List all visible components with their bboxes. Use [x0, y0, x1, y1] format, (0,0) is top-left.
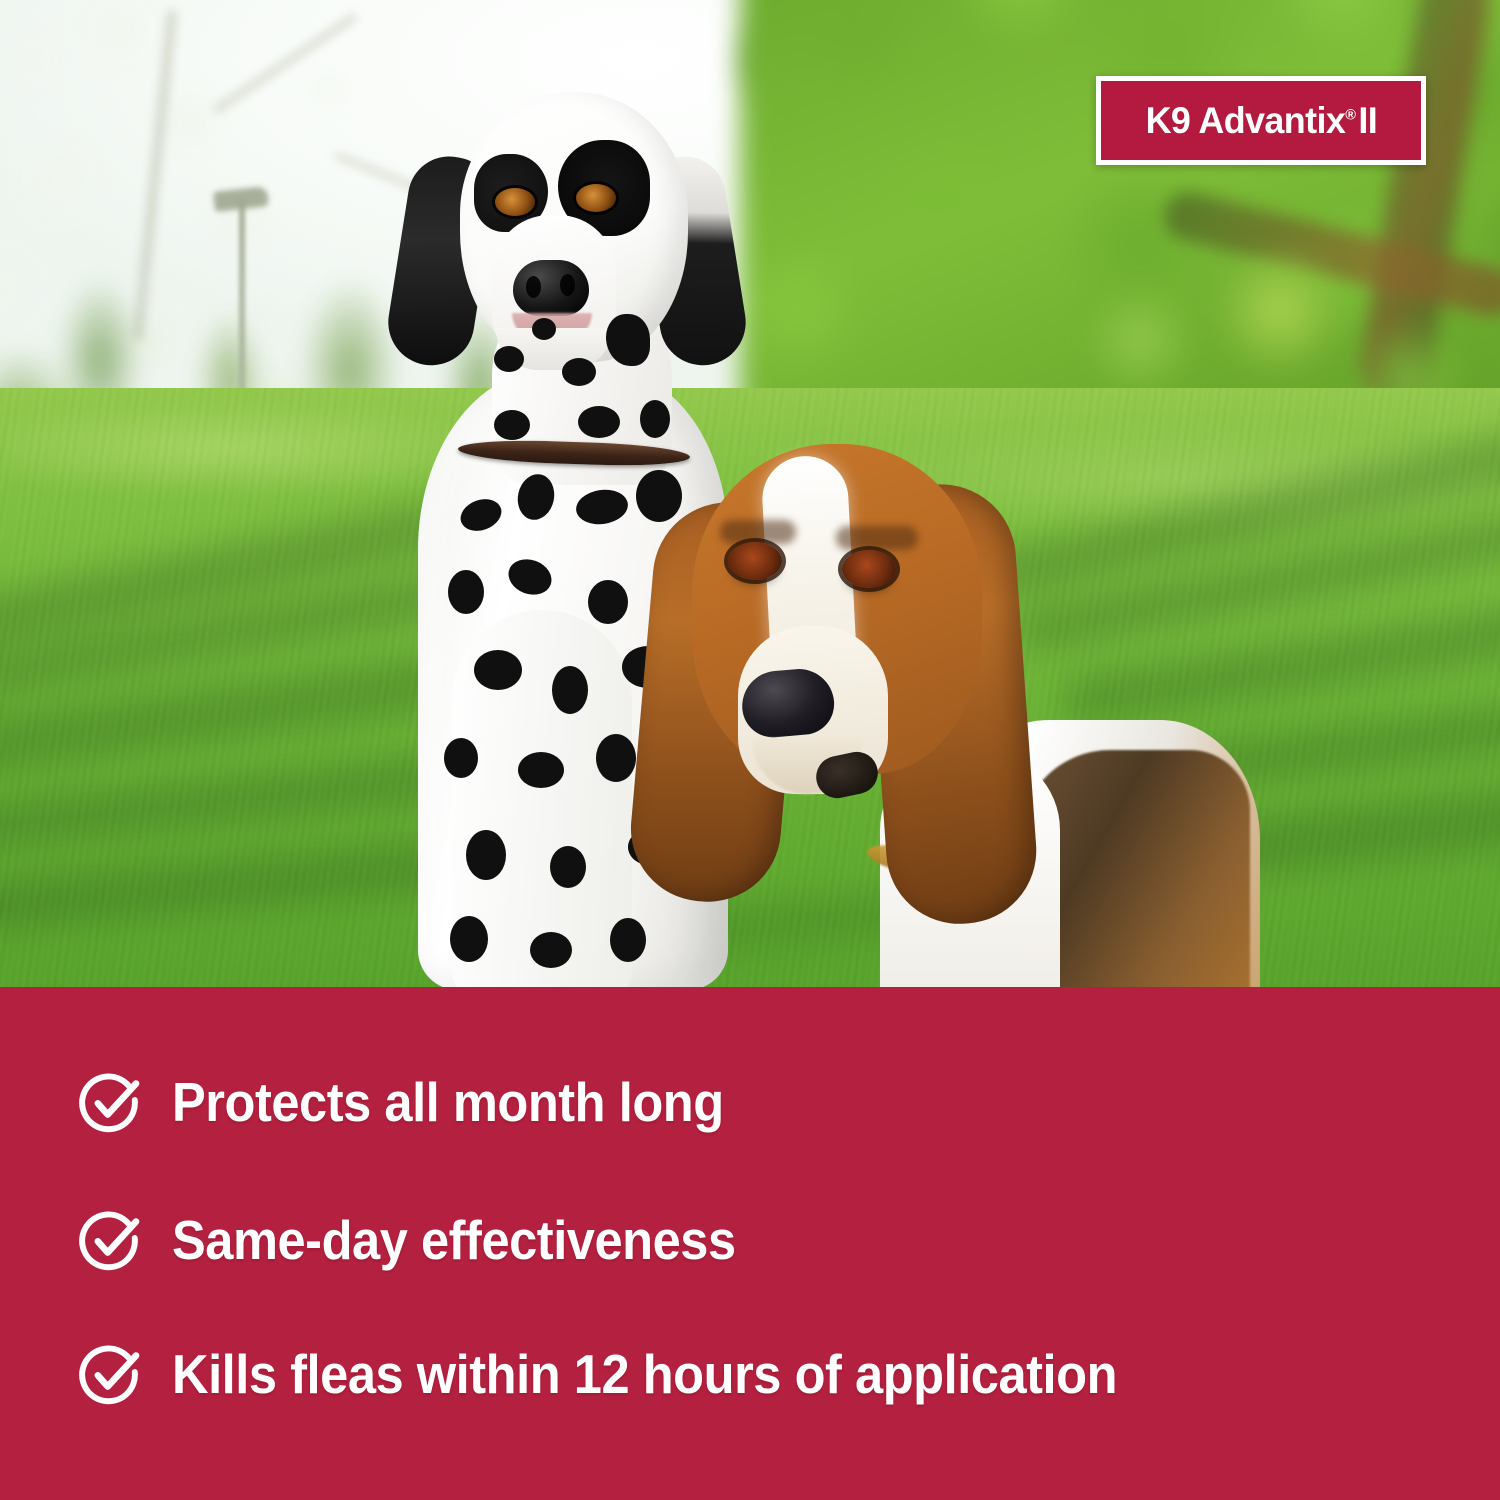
check-circle-icon	[78, 1069, 144, 1135]
dalmatian-eye-right	[576, 184, 616, 212]
registered-trademark-icon: ®	[1345, 106, 1355, 123]
k9-advantix-logo-badge[interactable]: K9 Advantix®II	[1096, 76, 1426, 165]
dalmatian-spot	[474, 650, 522, 690]
benefit-label: Same-day effectiveness	[172, 1208, 736, 1272]
benefits-list: Protects all month long Same-day effecti…	[0, 987, 1500, 1500]
lamp-post	[239, 200, 245, 405]
benefits-panel: Protects all month long Same-day effecti…	[0, 987, 1500, 1500]
benefit-label: Kills fleas within 12 hours of applicati…	[172, 1342, 1117, 1406]
dalmatian-nostril	[526, 276, 541, 298]
dalmatian-spot	[494, 346, 524, 372]
dalmatian-spot	[552, 666, 588, 714]
dalmatian-spot	[532, 318, 556, 340]
dalmatian-spot	[466, 830, 506, 880]
dalmatian-nostril	[560, 274, 575, 296]
check-circle-icon	[78, 1207, 144, 1273]
dalmatian-spot	[530, 932, 572, 968]
dalmatian-spot	[450, 916, 488, 962]
dalmatian-spot	[444, 738, 478, 778]
logo-version: II	[1358, 100, 1377, 141]
benefit-item-same-day: Same-day effectiveness	[78, 1207, 785, 1273]
basset-brow-left	[720, 520, 796, 544]
basset-brow-right	[836, 526, 918, 550]
basset-hound-dog	[620, 420, 1260, 987]
logo-brand: K9 Advantix	[1145, 100, 1345, 141]
dalmatian-spot	[550, 846, 586, 888]
benefit-label: Protects all month long	[172, 1070, 724, 1134]
dalmatian-spot	[518, 752, 564, 788]
basset-eye-left	[728, 542, 782, 580]
dalmatian-spot	[578, 406, 620, 438]
dalmatian-spot	[448, 570, 484, 614]
check-circle-icon	[78, 1341, 144, 1407]
dalmatian-eye-left	[495, 188, 535, 216]
benefit-item-kills-fleas: Kills fleas within 12 hours of applicati…	[78, 1341, 1199, 1407]
dalmatian-nose	[513, 260, 589, 316]
benefit-item-protects: Protects all month long	[78, 1069, 772, 1135]
logo-text: K9 Advantix®II	[1145, 100, 1377, 142]
marketing-banner: K9 Advantix®II Protects all month long S…	[0, 0, 1500, 1500]
dalmatian-spot	[562, 358, 596, 386]
basset-eye-right	[842, 550, 896, 588]
hero-photo: K9 Advantix®II	[0, 0, 1500, 987]
dalmatian-spot	[494, 410, 530, 440]
